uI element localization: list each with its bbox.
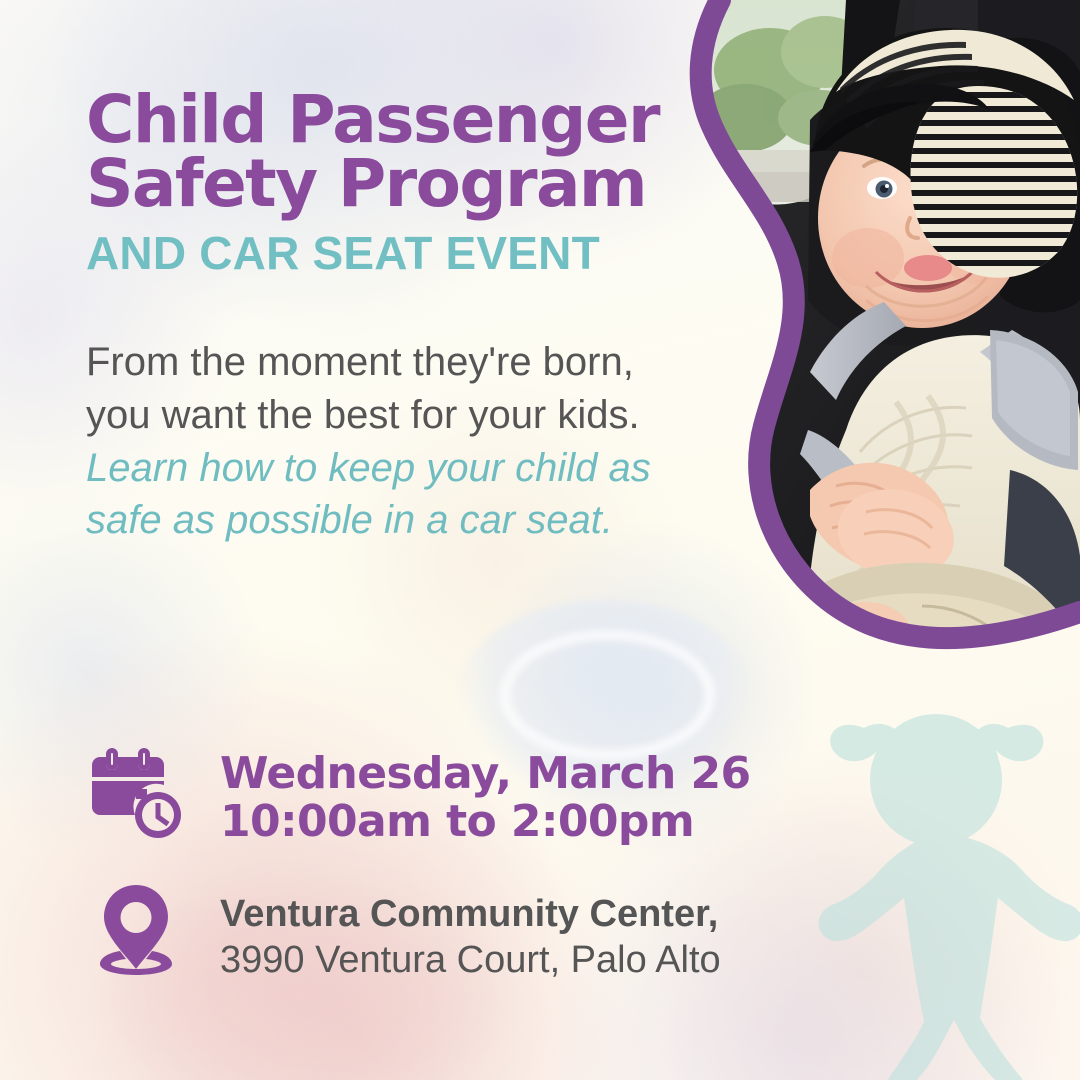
body-copy: From the moment they're born, you want t…	[86, 336, 700, 547]
baby-photo-panel	[660, 0, 1080, 690]
calendar-clock-icon	[86, 748, 186, 840]
event-location-row: Ventura Community Center, 3990 Ventura C…	[86, 883, 846, 984]
headline-line-1: Child Passenger	[86, 88, 700, 152]
venue-address: 3990 Ventura Court, Palo Alto	[220, 937, 721, 983]
subheading: AND CAR SEAT EVENT	[86, 226, 700, 280]
baby-in-car-seat-photo	[660, 0, 1080, 690]
body-line-2: you want the best for your kids.	[86, 389, 700, 442]
event-date-text: Wednesday, March 26 10:00am to 2:00pm	[220, 748, 751, 845]
event-location-text: Ventura Community Center, 3990 Ventura C…	[220, 883, 721, 984]
event-date-row: Wednesday, March 26 10:00am to 2:00pm	[86, 748, 846, 845]
body-line-1: From the moment they're born,	[86, 336, 700, 389]
map-pin-icon	[86, 883, 186, 975]
body-accent-line-1: Learn how to keep your child as	[86, 442, 700, 495]
venue-name: Ventura Community Center,	[220, 891, 721, 937]
poster: Child Passenger Safety Program AND CAR S…	[0, 0, 1080, 1080]
event-details: Wednesday, March 26 10:00am to 2:00pm Ve…	[86, 748, 846, 984]
page-title: Child Passenger Safety Program	[86, 88, 700, 216]
event-date: Wednesday, March 26	[220, 750, 751, 798]
headline-line-2: Safety Program	[86, 152, 700, 216]
event-time: 10:00am to 2:00pm	[220, 798, 751, 846]
body-accent-line-2: safe as possible in a car seat.	[86, 494, 700, 547]
